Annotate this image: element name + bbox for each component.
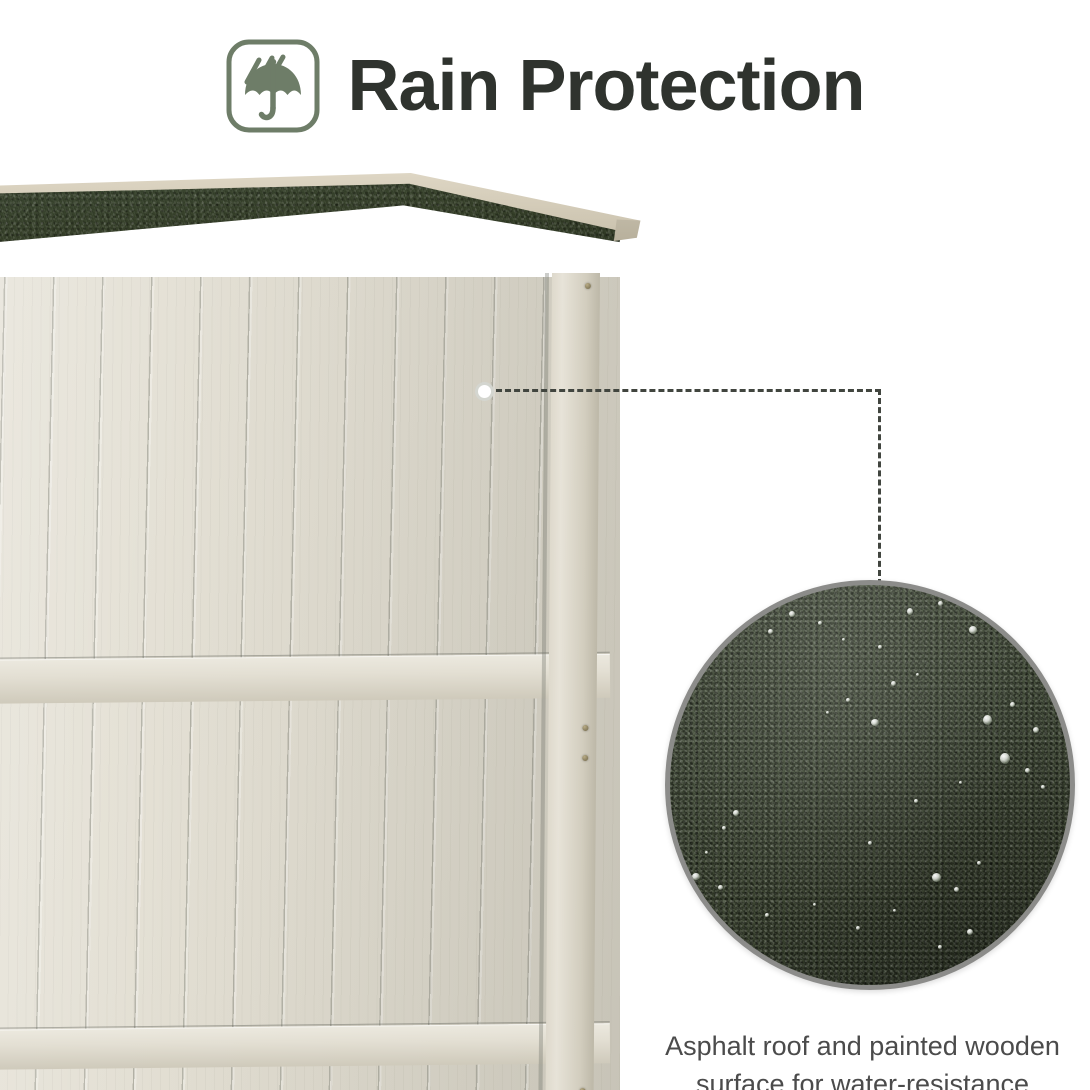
- product-photo: Asphalt roof and painted wooden surface …: [0, 165, 1090, 1090]
- water-droplet: [789, 611, 795, 617]
- water-droplet: [1010, 702, 1015, 707]
- water-droplet: [891, 681, 896, 686]
- water-droplet: [938, 601, 943, 606]
- screw-head: [585, 283, 591, 289]
- roof-callout-marker: [475, 382, 494, 401]
- water-droplet: [856, 926, 860, 930]
- water-droplet: [871, 719, 879, 726]
- water-droplet: [868, 841, 872, 845]
- water-droplet: [692, 873, 700, 880]
- water-droplet: [768, 629, 773, 634]
- water-droplet: [914, 799, 918, 803]
- water-droplet: [1000, 753, 1010, 764]
- water-droplet: [846, 698, 850, 702]
- water-droplet: [1006, 629, 1010, 633]
- water-droplet: [705, 851, 708, 854]
- umbrella-rain-icon: [225, 38, 321, 134]
- water-droplet: [826, 711, 829, 714]
- product-feature-slide: Rain Protection: [0, 0, 1090, 1090]
- caption-line-2: surface for water-resistance: [640, 1065, 1085, 1090]
- water-droplet: [977, 861, 981, 865]
- water-droplet: [954, 887, 959, 892]
- water-droplet: [983, 715, 992, 725]
- water-droplet: [967, 929, 973, 935]
- detail-caption: Asphalt roof and painted wooden surface …: [640, 1027, 1085, 1090]
- feature-header: Rain Protection: [0, 28, 1090, 144]
- detail-lighting: [670, 585, 1070, 985]
- water-droplet: [938, 945, 942, 949]
- caption-line-1: Asphalt roof and painted wooden: [640, 1027, 1085, 1065]
- water-droplet: [893, 909, 896, 912]
- water-droplet: [818, 621, 822, 625]
- shed-mid-rail: [0, 654, 610, 704]
- water-droplet: [907, 608, 913, 615]
- water-droplet: [1026, 638, 1032, 644]
- water-droplet: [1041, 785, 1045, 789]
- shed-corner-stile: [546, 273, 600, 1090]
- water-droplet: [916, 673, 919, 676]
- water-droplet: [722, 826, 726, 830]
- garden-shed: [0, 165, 660, 1090]
- water-droplet: [733, 810, 739, 816]
- detail-zoom-circle: [665, 580, 1075, 990]
- water-droplet: [988, 619, 993, 624]
- water-droplet: [1025, 768, 1030, 773]
- water-droplet: [708, 632, 717, 641]
- shed-lower-rail: [0, 1023, 610, 1070]
- water-droplet: [932, 873, 941, 882]
- callout-leader-horizontal: [496, 389, 881, 392]
- water-droplet: [1033, 727, 1039, 733]
- water-droplet: [813, 903, 816, 906]
- water-droplet: [959, 781, 962, 784]
- water-droplet: [969, 626, 977, 634]
- callout-leader-vertical: [878, 389, 881, 585]
- water-droplet: [765, 913, 769, 917]
- water-droplet: [718, 885, 723, 890]
- water-droplet: [842, 638, 845, 641]
- page-title: Rain Protection: [347, 50, 864, 122]
- screw-head: [582, 755, 588, 761]
- water-droplet: [878, 645, 882, 649]
- screw-head: [582, 725, 588, 731]
